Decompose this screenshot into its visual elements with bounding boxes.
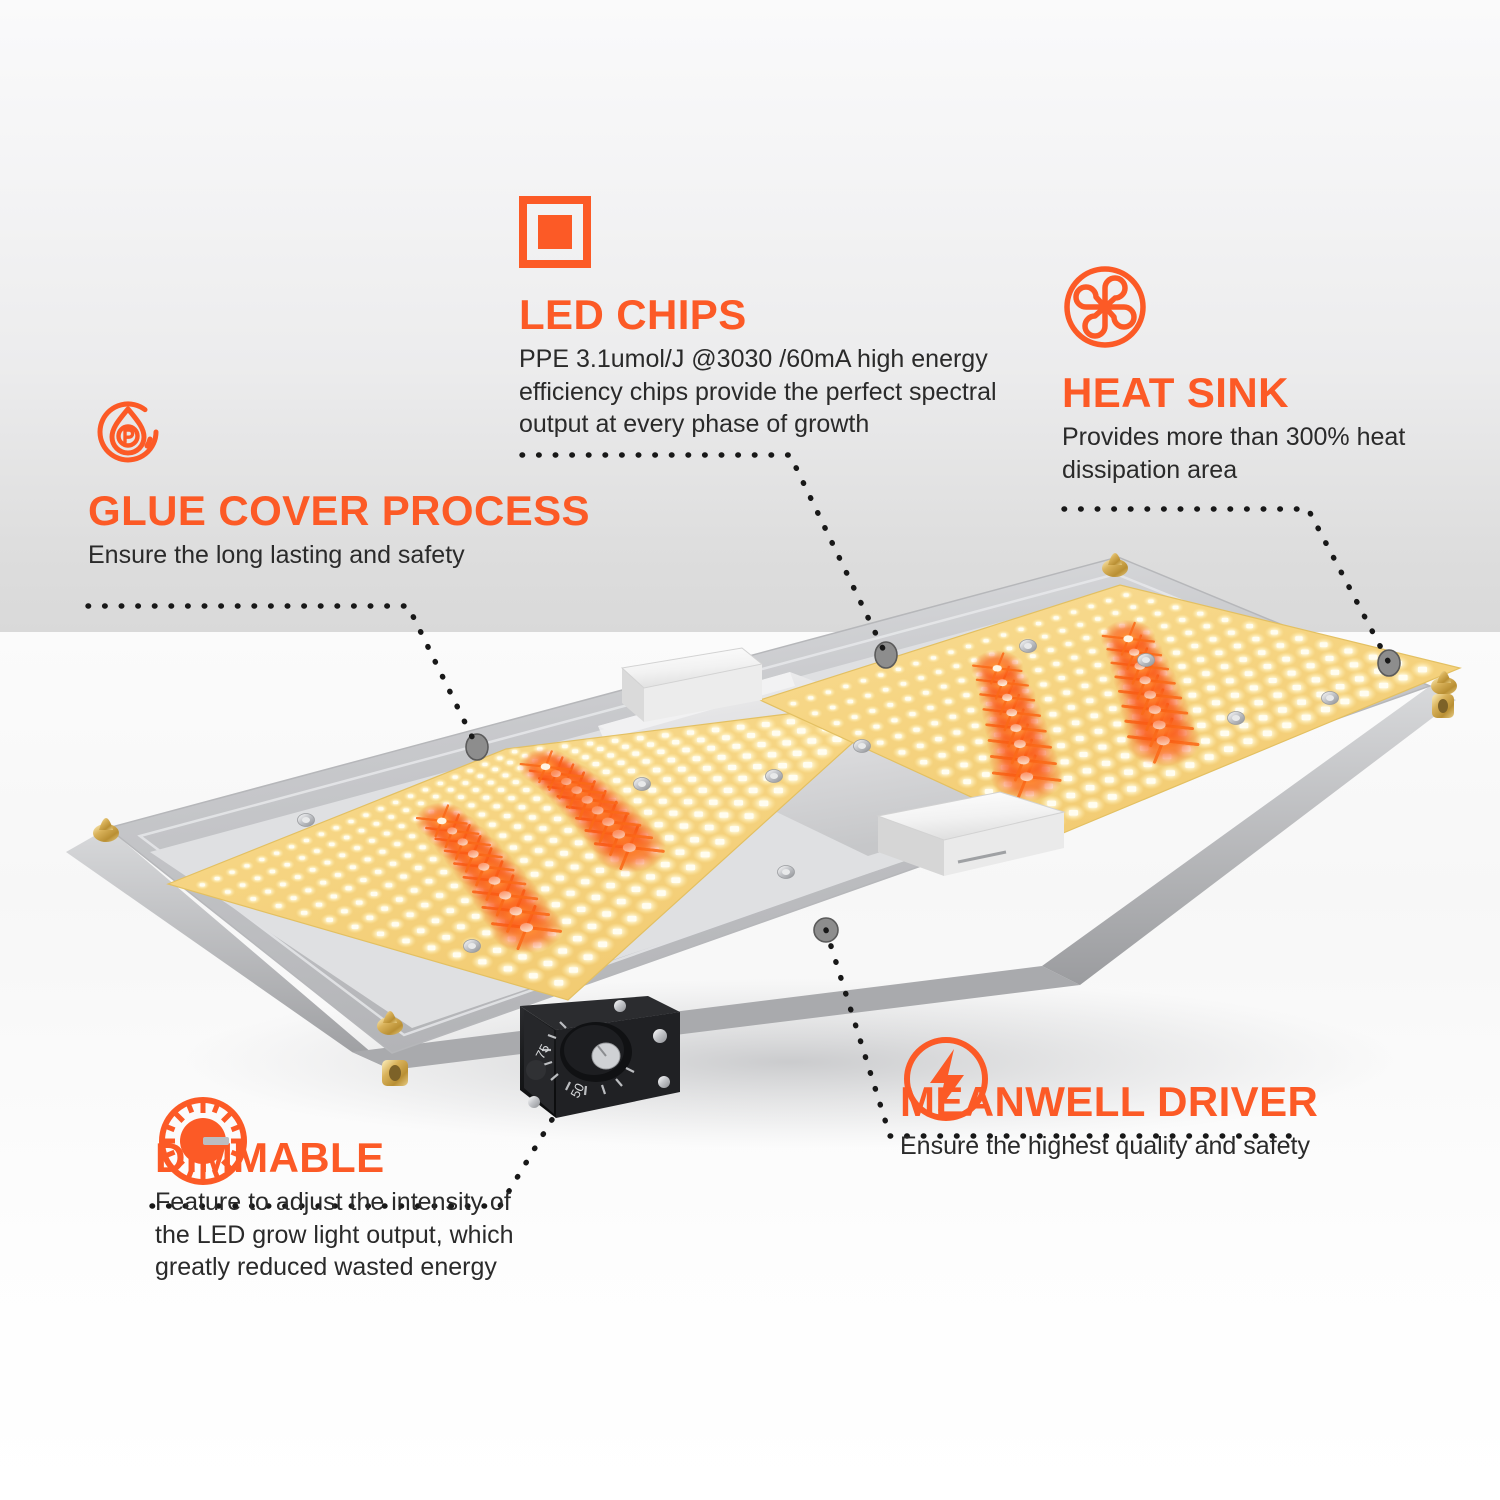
- infographic-canvas: 75 50: [0, 0, 1500, 1500]
- lightning-bolt-icon: [900, 1033, 992, 1125]
- feature-body: Ensure the long lasting and safety: [88, 539, 590, 572]
- connector-heat-sink: [1064, 509, 1389, 663]
- feature-body: Feature to adjust the intensity of the L…: [155, 1186, 535, 1284]
- feature-glue-cover-process: GLUE COVER PROCESS Ensure the long lasti…: [88, 392, 590, 572]
- connector-glue-cover: [88, 606, 477, 747]
- fan-heat-sink-icon: [1062, 264, 1148, 350]
- feature-title: HEAT SINK: [1062, 372, 1432, 414]
- led-chip-square-icon: [519, 196, 591, 268]
- feature-title: LED CHIPS: [519, 294, 999, 336]
- glue-droplet-icon: [88, 392, 168, 472]
- dimmer-knob-icon: [155, 1093, 251, 1189]
- feature-led-chips: LED CHIPS PPE 3.1umol/J @3030 /60mA high…: [519, 196, 999, 441]
- feature-dimmable: DIMMABLE Feature to adjust the intensity…: [155, 1093, 535, 1284]
- feature-body: Provides more than 300% heat dissipation…: [1062, 421, 1432, 486]
- feature-heat-sink: HEAT SINK Provides more than 300% heat d…: [1062, 264, 1432, 486]
- feature-meanwell-driver: MEANWELL DRIVER Ensure the highest quali…: [900, 1033, 1318, 1163]
- feature-body: Ensure the highest quality and safety: [900, 1130, 1318, 1163]
- feature-body: PPE 3.1umol/J @3030 /60mA high energy ef…: [519, 343, 999, 441]
- feature-title: GLUE COVER PROCESS: [88, 490, 590, 532]
